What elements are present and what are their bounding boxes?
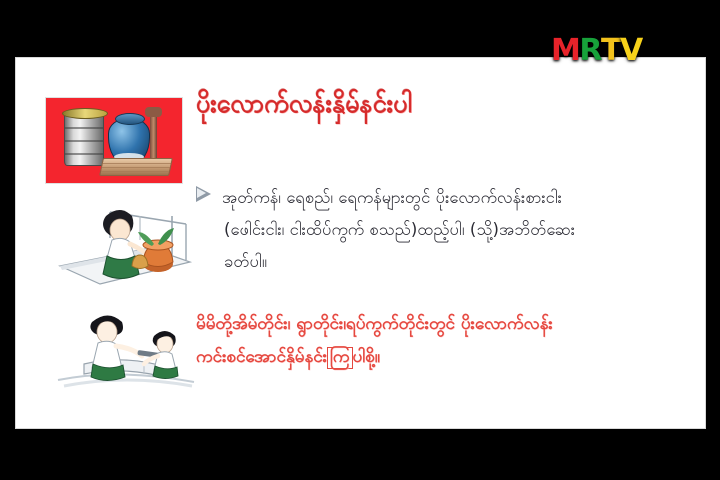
logo-letter-r: R <box>579 36 601 66</box>
woman-water-pots-drawing <box>54 190 194 290</box>
logo-letter-m: M <box>551 36 579 66</box>
metal-drum-shape <box>64 112 104 166</box>
page-title: ပိုးလောက်လန်းနှိမ်နင်းပါ <box>196 88 696 119</box>
illustration-water-containers <box>45 97 183 184</box>
cta-line-2-before: ကင်းစင်အောင်နှိမ်နင်း <box>196 347 327 367</box>
wooden-plank-shape <box>99 158 173 176</box>
call-to-action-block: မိမိတို့အိမ်တိုင်း၊ ရွာတိုင်း၊ရပ်ကွက်တို… <box>196 308 696 374</box>
body-line-3: ခတ်ပါ။ <box>196 246 694 278</box>
body-line-2: (ဖေါင်းငါး၊ ငါးထိပ်ကွက် စသည်)ထည့်ပါ၊ (သိ… <box>196 214 694 246</box>
tv-broadcast-frame: MRTV ပိုးလောက်လန်းနှိမ်နင်းပါ <box>0 0 720 480</box>
slide-card: ပိုးလောက်လန်းနှိမ်နင်းပါ <box>16 58 705 428</box>
family-cleaning-drawing <box>54 302 199 397</box>
illustration-family-cleaning-water-tank <box>54 302 199 397</box>
cta-line-2-after: ပါစို့။ <box>353 347 380 367</box>
cta-line-2: ကင်းစင်အောင်နှိမ်နင်းကြပါစို့။ <box>196 341 696 374</box>
cta-line-2-boxed-word: ကြ <box>327 347 353 369</box>
logo-letter-v: V <box>620 36 642 66</box>
body-line-1-wrapper: အုတ်ကန်၊ ရေစည်၊ ရေကန်များတွင် ပိုးလောက်လ… <box>196 182 694 214</box>
mrtv-station-logo: MRTV <box>551 36 642 66</box>
body-text-block: အုတ်ကန်၊ ရေစည်၊ ရေကန်များတွင် ပိုးလောက်လ… <box>196 182 694 279</box>
wooden-post-shape <box>150 112 157 162</box>
cta-line-1: မိမိတို့အိမ်တိုင်း၊ ရွာတိုင်း၊ရပ်ကွက်တို… <box>196 308 696 341</box>
illustration-woman-with-water-pots <box>54 190 194 290</box>
logo-letter-t: T <box>601 36 620 66</box>
arrow-bullet-highlight-icon <box>197 188 206 198</box>
body-line-1: အုတ်ကန်၊ ရေစည်၊ ရေကန်များတွင် ပိုးလောက်လ… <box>222 188 562 207</box>
